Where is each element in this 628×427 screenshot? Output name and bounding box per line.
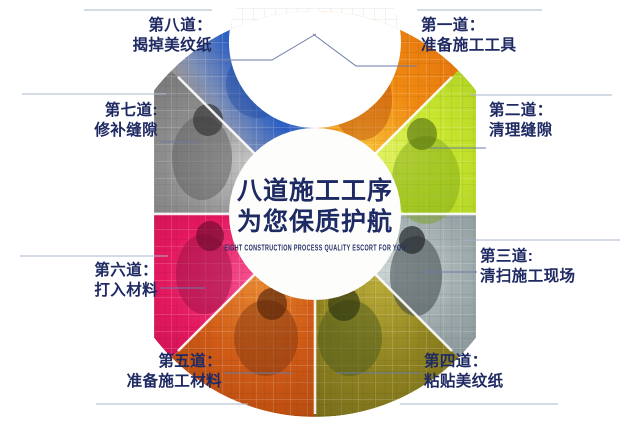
step-title-6: 打入材料 bbox=[94, 281, 158, 301]
step-label-2: 第二道： 清理缝隙 bbox=[489, 101, 553, 141]
step-label-6: 第六道： 打入材料 bbox=[94, 261, 158, 301]
step-label-5: 第五道： 准备施工材料 bbox=[127, 352, 222, 392]
step-order-4: 第四道： bbox=[424, 353, 488, 370]
hub-line-1: 八道施工工序 bbox=[237, 176, 393, 207]
step-label-1: 第一道： 准备施工工具 bbox=[421, 16, 516, 56]
step-title-4: 粘贴美纹纸 bbox=[424, 372, 504, 392]
poster-canvas: 八道施工工序 为您保质护航 EIGHT CONSTRUCTION PROCESS… bbox=[0, 0, 628, 427]
hub-english-tagline: EIGHT CONSTRUCTION PROCESS QUALITY ESCOR… bbox=[224, 245, 405, 254]
step-order-5: 第五道： bbox=[158, 353, 222, 370]
step-label-8: 第八道： 揭掉美纹纸 bbox=[132, 16, 212, 56]
step-order-8: 第八道： bbox=[148, 17, 212, 34]
step-label-3: 第三道: 清扫施工现场 bbox=[480, 247, 575, 287]
step-order-1: 第一道： bbox=[421, 17, 485, 34]
step-order-7: 第七道: bbox=[105, 102, 158, 119]
step-label-7: 第七道: 修补缝隙 bbox=[94, 101, 158, 141]
step-order-3: 第三道: bbox=[480, 248, 533, 265]
step-order-6: 第六道： bbox=[94, 262, 158, 279]
hub-line-2: 为您保质护航 bbox=[237, 207, 393, 238]
step-title-8: 揭掉美纹纸 bbox=[132, 36, 212, 56]
step-title-2: 清理缝隙 bbox=[489, 121, 553, 141]
step-title-1: 准备施工工具 bbox=[421, 36, 516, 56]
step-title-5: 准备施工材料 bbox=[127, 372, 222, 392]
center-hub: 八道施工工序 为您保质护航 EIGHT CONSTRUCTION PROCESS… bbox=[229, 128, 401, 300]
step-title-3: 清扫施工现场 bbox=[480, 267, 575, 287]
step-order-2: 第二道： bbox=[489, 102, 553, 119]
step-title-7: 修补缝隙 bbox=[94, 121, 158, 141]
step-label-4: 第四道： 粘贴美纹纸 bbox=[424, 352, 504, 392]
